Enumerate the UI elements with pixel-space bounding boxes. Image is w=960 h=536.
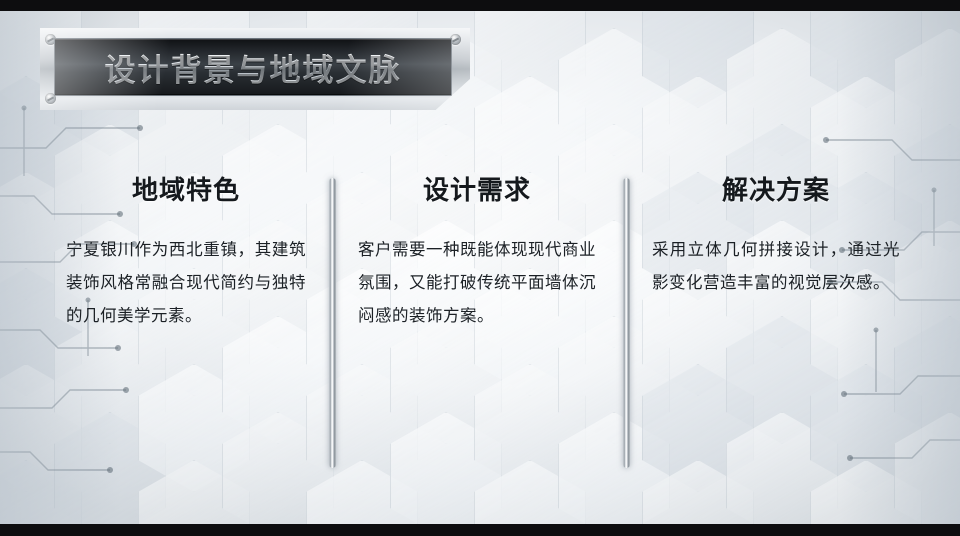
column-body-text: 宁夏银川作为西北重镇，其建筑装饰风格常融合现代简约与独特的几何美学元素。: [62, 233, 310, 332]
column-body-text: 采用立体几何拼接设计，通过光影变化营造丰富的视觉层次感。: [652, 233, 900, 299]
bottom-letterbox-band: [0, 524, 960, 536]
column-design-requirements: 设计需求 客户需要一种既能体现现代商业氛围，又能打破传统平面墙体沉闷感的装饰方案…: [358, 170, 596, 332]
column-solution: 解决方案 采用立体几何拼接设计，通过光影变化营造丰富的视觉层次感。: [652, 170, 900, 299]
column-divider-2: [623, 178, 630, 468]
title-inner-panel: 设计背景与地域文脉: [54, 38, 452, 96]
column-divider-1: [329, 178, 336, 468]
slide-root: 设计背景与地域文脉 地域特色 宁夏银川作为西北重镇，其建筑装饰风格常融合现代简约…: [0, 0, 960, 536]
column-heading: 地域特色: [62, 170, 310, 207]
column-regional-features: 地域特色 宁夏银川作为西北重镇，其建筑装饰风格常融合现代简约与独特的几何美学元素…: [62, 170, 310, 332]
column-heading: 设计需求: [358, 170, 596, 207]
title-plate: 设计背景与地域文脉: [40, 28, 470, 110]
column-heading: 解决方案: [652, 170, 900, 207]
top-letterbox-band: [0, 0, 960, 11]
column-body-text: 客户需要一种既能体现现代商业氛围，又能打破传统平面墙体沉闷感的装饰方案。: [358, 233, 596, 332]
page-title: 设计背景与地域文脉: [105, 45, 402, 90]
